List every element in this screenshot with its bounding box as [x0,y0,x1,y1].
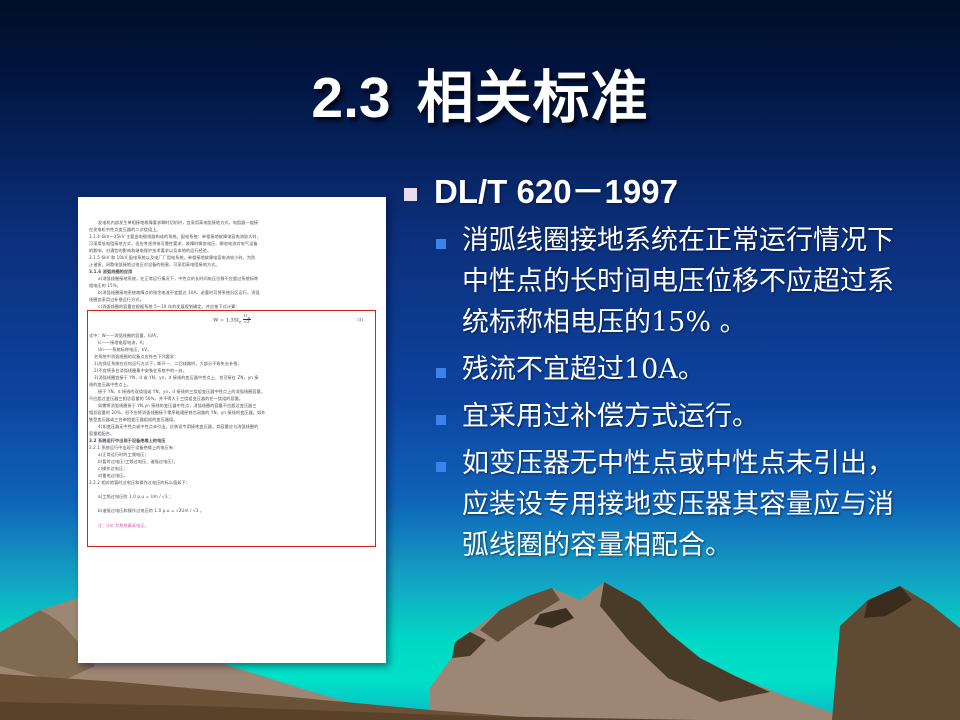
slide-title-number: 2.3 [311,66,390,130]
square-bullet-icon [436,239,446,249]
formula-eq: = [220,318,224,324]
list-item: 如变压器无中性点或中性点未引出，应装设专用接地变压器其容量应与消弧线圈的容量相配… [436,443,952,566]
doc-line: 发电机内部发生单相接地故障要求瞬时切机时，宜采用高电阻接地方式，电阻器一般接 [89,219,375,226]
doc-line: Ic——接地电容电流，A； [89,339,375,346]
doc-line: d)雷电过电压。 [89,472,375,479]
doc-line: 相总容量的 20%，但不应将消弧线圈接于零序磁通经铁芯闭路的 YN，yn 接线的… [89,409,375,416]
formula-coef: 1.35 [226,318,237,324]
doc-line: Un——系统标称电压，kV。 [89,346,375,353]
doc-note-line: 注：Um 为系统最高电压。 [89,522,375,529]
doc-line: 不应超过变压器三相总容量的 50%，并不得大于三绕组变压器的任一绕组的容量。 [89,395,375,402]
doc-line: 如需将消弧线圈接于 YN,yn 接线的变压器中性点，消弧线圈的容量不应超过变压器… [89,402,375,409]
doc-line: b)消弧线圈接地系统故障点的残余电流不宜超过 10A。必要时可将系统分区运行。消… [89,289,375,296]
formula-denominator: √3 [244,320,250,325]
doc-section-heading: 3.1.6 消弧线圈的应用 [89,268,375,275]
presentation-slide: 2.3相关标准 DL/T 620－1997 消弧线圈接地系统在正常运行情况下中性… [0,0,960,720]
doc-line: 在发电机中性点变压器的二次绕组上。 [89,226,375,233]
formula-fraction: Un √3 [243,315,251,325]
doc-line: 可采用低电阻接地方式，但应考虑供电可靠性要求、故障时瞬态电压、瞬态电流对电气设备 [89,240,375,247]
list-item-label: 如变压器无中性点或中性点未引出，应装设专用接地变压器其容量应与消弧线圈的容量相配… [462,443,917,566]
doc-line: 3.1.4 6kV～35kV 主要由电缆线路构成的系统，配电系统：单相接地故障电… [89,233,375,240]
doc-line: 铁型变压器或三台单相变压器组成的变压器组。 [89,416,375,423]
doc-line: 3)消弧线圈宜接于 YN，d 或 YN，yn，d 接线的变压器中性点上，也可接在… [89,374,375,381]
square-bullet-icon [404,188,417,201]
document-page-content: 发电机内部发生单相接地故障要求瞬时切机时，宜采用高电阻接地方式，电阻器一般接 在… [78,197,386,529]
doc-line: a)正常运行时的工频电压； [89,451,375,458]
doc-line: b)暂时过电压(工频过电压、谐振过电压)； [89,458,375,465]
doc-line: 名系统中消弧线圈的设备点应符合下列要求： [89,353,375,360]
doc-section-heading: 3.2 系统运行中出现于设备绝缘上的电压 [89,437,375,444]
square-bullet-icon [436,368,446,378]
doc-line: a)消弧线圈接地系统，在正常运行情况下，中性点的长时间电压位移不应超过系统标称 [89,275,375,282]
list-item: 宜采用过补偿方式运行。 [436,396,952,437]
doc-line: 3.2.2 相对地暂时过电压和操作过电压的标么值如下： [89,479,375,486]
bullet-heading-label: DL/T 620－1997 [434,172,678,212]
doc-line: 线圈宜采用过补偿运行方式。 [89,296,375,303]
list-item-label: 宜采用过补偿方式运行。 [462,396,759,437]
slide-title: 2.3相关标准 [0,52,960,134]
list-item-label: 残流不宜超过10A。 [462,349,705,390]
doc-line: 1)应保证系统在任何运行方式下，断开一、二回线路时，大部分不致失去补偿。 [89,360,375,367]
list-item: 消弧线圈接地系统在正常运行情况下中性点的长时间电压位移不应超过系统标称相电压的1… [436,220,952,343]
doc-line: a)工频过电压的 1.0 p.u = Um / √3 ； [89,493,375,500]
doc-line: 2)不宜将多台消弧线圈集中安装在系统中的一处。 [89,367,375,374]
doc-line: 的影响，对通信的影响和继电保护技术要求以及本地的运行经验。 [89,247,375,254]
doc-line: 容量相配合。 [89,430,375,437]
doc-line: 相电压的 15%。 [89,282,375,289]
formula-sub-index: c [239,320,241,325]
doc-line: 接于 YN，d 接线的双绕组或 YN，yn，d 接线的三绕组变压器中性点上的消弧… [89,388,375,395]
formula-number: (1) [357,317,363,322]
square-bullet-icon [436,462,446,472]
doc-line: 4)如变压器无中性点或中性点未引出，应装设专用接地变压器，其容量应与消弧线圈的 [89,423,375,430]
doc-line: c)操作过电压； [89,465,375,472]
doc-line: c)消弧线圈的容量应根据系统 5～10 年的发展规划确定，并应按下式计算： [89,303,375,310]
doc-line: 3.2.1 系统运行中出现于设备绝缘上的电压有： [89,444,375,451]
scanned-document-image: 发电机内部发生单相接地故障要求瞬时切机时，宜采用高电阻接地方式，电阻器一般接 在… [78,197,386,663]
bullet-level1-heading: DL/T 620－1997 [404,172,952,212]
list-item: 残流不宜超过10A。 [436,349,952,390]
slide-title-text: 相关标准 [417,66,649,130]
doc-line: b)谐振过电压和操作过电压的 1.0 p.u = √2Um / √3 。 [89,507,375,514]
formula-lhs: W [213,318,218,324]
doc-line: 3.1.5 6kV 和 10kV 配电系统以及电厂厂用电系统，单相接地故障电容电… [89,254,375,261]
doc-formula: W = 1.35Ic Un √3 (1) [89,315,375,325]
bullet-list: DL/T 620－1997 消弧线圈接地系统在正常运行情况下中性点的长时间电压位… [404,172,952,573]
square-bullet-icon [436,415,446,425]
doc-line: 线的变压器中性点上。 [89,381,375,388]
doc-line: 止谐振、间歇电弧接地过电压对设备的损害，可采用高电阻接地方式。 [89,261,375,268]
list-item-label: 消弧线圈接地系统在正常运行情况下中性点的长时间电压位移不应超过系统标称相电压的1… [462,220,917,343]
doc-line: 式中：W——消弧线圈的容量，kVA； [89,332,375,339]
